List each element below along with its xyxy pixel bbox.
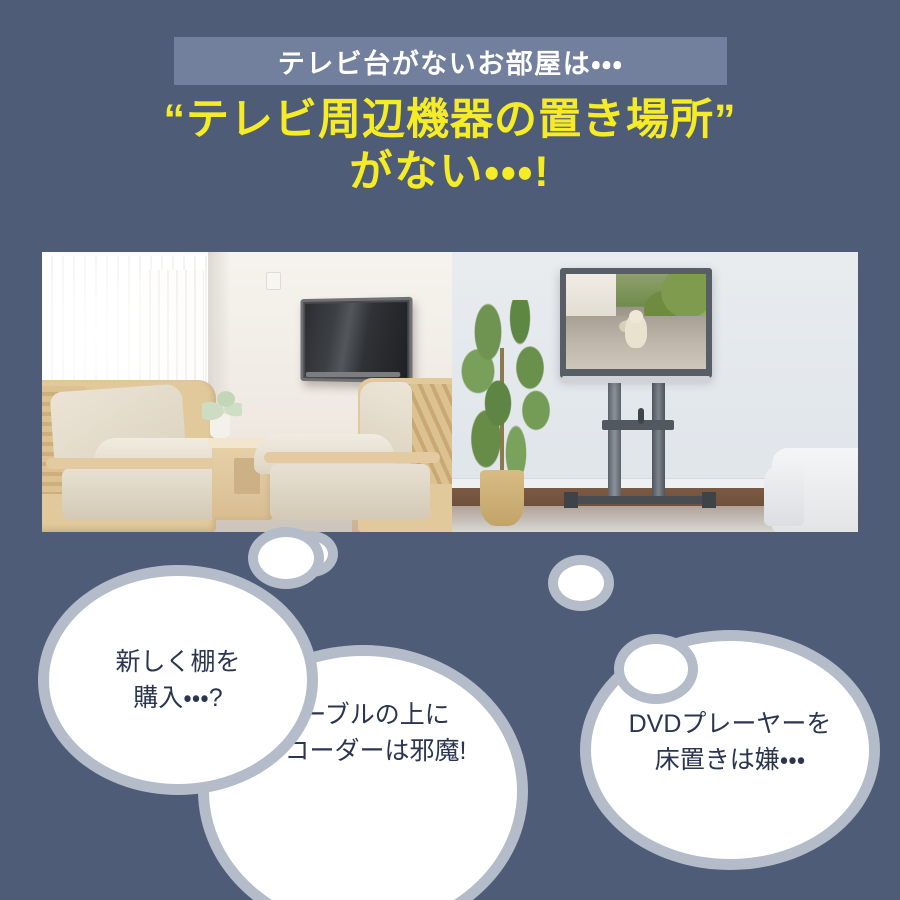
tv-stand-mount-plate: [562, 376, 710, 383]
tv-stand-column-left: [608, 382, 621, 498]
tv-wall-bracket: [306, 372, 400, 377]
speech-bubble-3-tail-small: [548, 555, 614, 611]
speech-bubble-1-line-1: 新しく棚を: [115, 648, 240, 676]
wall-switch-plate: [266, 272, 281, 290]
speech-bubble-3-tail-large: [614, 634, 698, 704]
armchair-right-armrest: [264, 452, 440, 463]
photo-strip: [42, 252, 858, 532]
photo-tv-on-floor-stand: [452, 252, 858, 532]
armchair-left-armrest: [46, 458, 222, 469]
tv-stand-base-bar: [564, 496, 716, 504]
tv-stand-foot-right: [702, 492, 716, 508]
speech-bubble-3-line-1: DVDプレーヤーを: [629, 710, 832, 738]
tv-stand-column-right: [652, 382, 665, 498]
tv-screen: [566, 274, 706, 369]
potted-plant-foliage: [458, 300, 558, 478]
photo-living-room-wall-mounted-tv: [42, 252, 452, 532]
tv-stand-foot-left: [564, 492, 578, 508]
promo-banner-page: テレビ台がないお部屋は・・・ “テレビ周辺機器の置き場所” がない・・・!: [0, 0, 900, 900]
tv-stand-height-knob: [638, 408, 644, 424]
headline-line-2: がない・・・!: [0, 146, 900, 198]
speech-bubble-new-shelf: 新しく棚を 購入・・・?: [38, 565, 318, 795]
speech-bubble-1-text: 新しく棚を 購入・・・?: [115, 644, 240, 717]
tv-on-stand: [560, 268, 712, 378]
speech-bubble-1-tail-large: [248, 527, 324, 589]
white-armchair-armrest: [764, 464, 804, 526]
headline-line-1: “テレビ周辺機器の置き場所”: [0, 94, 900, 146]
armchair-left-seat-base: [62, 468, 222, 520]
speech-bubble-1-line-2: 購入・・・?: [133, 684, 222, 712]
armchair-right-seat-base: [270, 464, 430, 520]
tv-screen: [305, 302, 407, 378]
woven-plant-basket: [480, 470, 524, 526]
speech-bubble-3-line-2: 床置きは嫌・・・: [655, 746, 806, 774]
page-title: “テレビ周辺機器の置き場所” がない・・・!: [0, 94, 900, 199]
tv-screen-dog-head: [629, 310, 643, 323]
wall-mounted-tv: [301, 297, 413, 383]
kicker-text: テレビ台がないお部屋は・・・: [174, 37, 727, 85]
speech-bubble-3-text: DVDプレーヤーを 床置きは嫌・・・: [629, 706, 832, 779]
small-plant-leaves: [202, 390, 242, 420]
